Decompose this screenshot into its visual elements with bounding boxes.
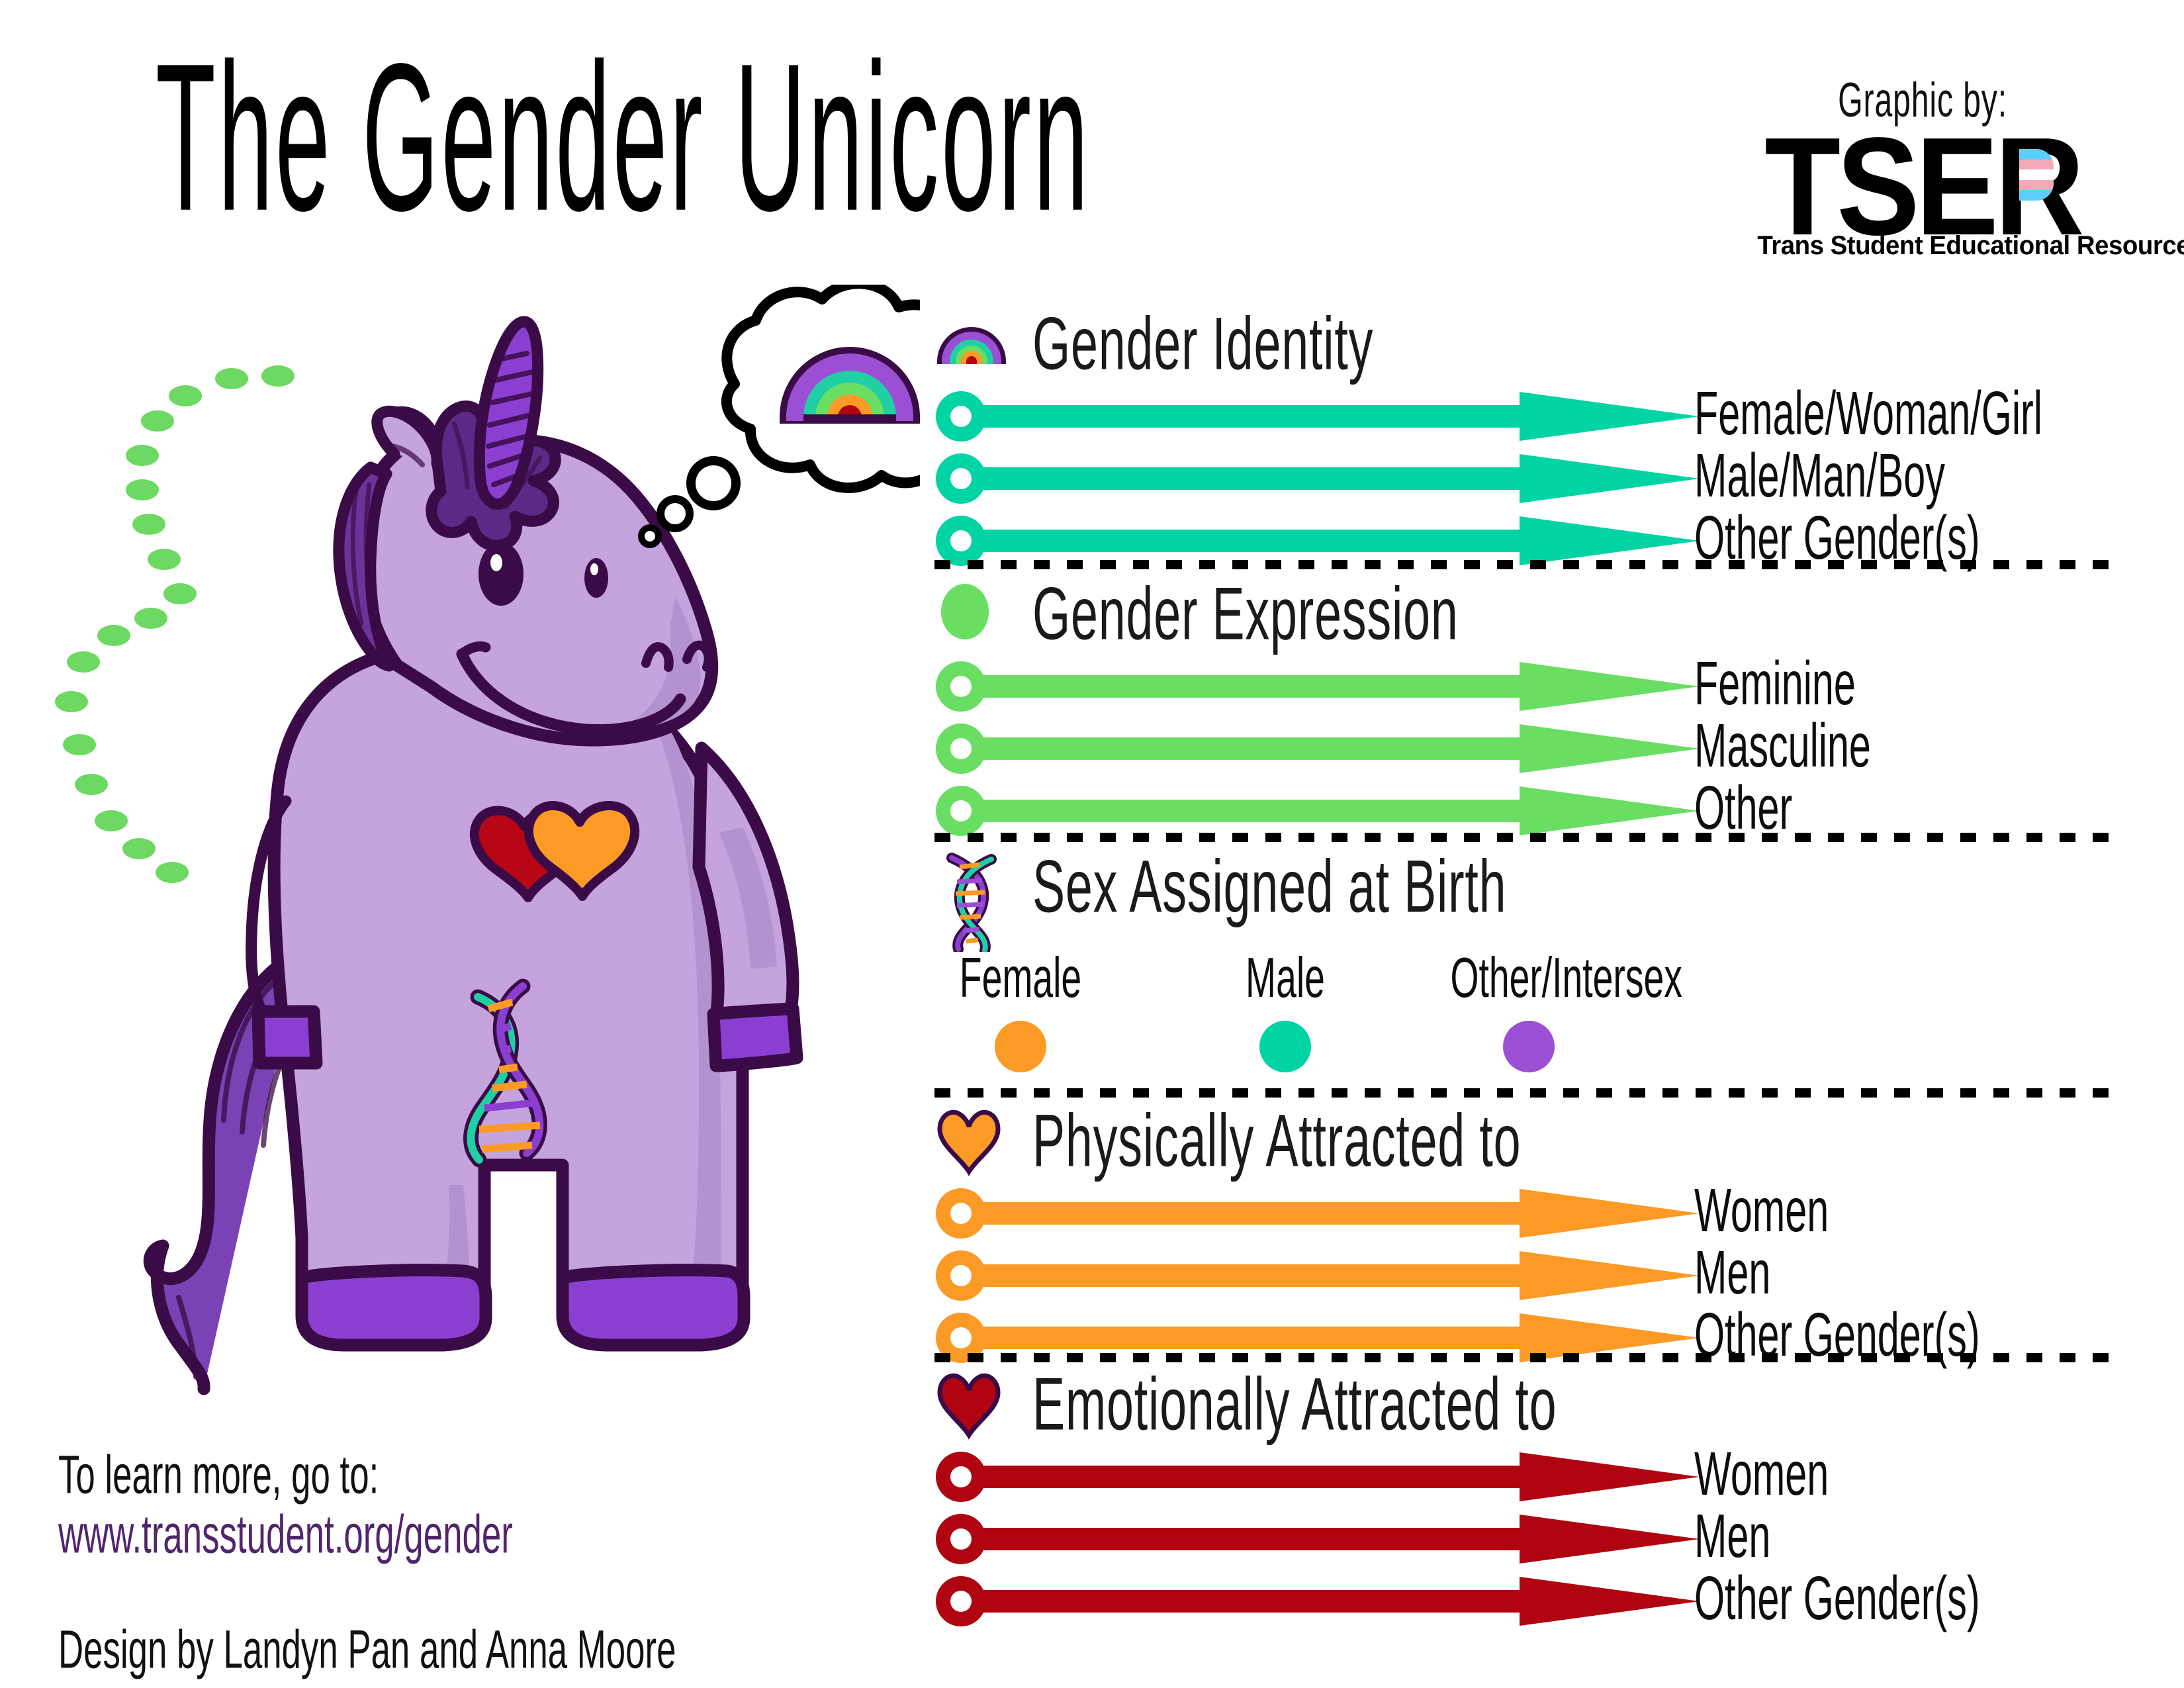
dna-icon (934, 853, 1009, 952)
sab-option-label: Female (942, 945, 1099, 1010)
decorative-dot-arc (40, 357, 318, 1284)
rainbow-icon (934, 310, 1009, 365)
sex-assigned-options: Female Male Other/Intersex (934, 945, 1861, 1098)
section-divider (934, 1353, 2122, 1362)
red-heart-icon (934, 1370, 1009, 1442)
spectrum-arrow[interactable] (934, 720, 1702, 777)
spectrum-arrow[interactable] (934, 1573, 1702, 1630)
section-gender-expression: Gender Expression Feminine Masculine Oth… (934, 580, 2126, 845)
section-header: Emotionally Attracted to (934, 1370, 2126, 1448)
spectrum-label: Women (1694, 1439, 1829, 1509)
section-header: Gender Expression (934, 580, 2126, 658)
spectrum-row[interactable]: Female/Woman/Girl (934, 388, 2126, 450)
tser-logo: Graphic by: TSER Trans Student Education… (1751, 73, 2095, 261)
website-link[interactable]: www.transstudent.org/gender (58, 1503, 667, 1565)
orange-heart-icon (934, 1107, 1009, 1178)
spectrum-label: Male/Man/Boy (1694, 441, 1945, 511)
sab-option-female[interactable]: Female (921, 945, 1120, 1072)
section-gender-identity: Gender Identity Female/Woman/Girl Male/M… (934, 310, 2126, 575)
design-credit: Design by Landyn Pan and Anna Moore (58, 1618, 667, 1680)
spectrum-arrow[interactable] (934, 782, 1702, 839)
spectrum-arrow[interactable] (934, 388, 1702, 445)
page-title: The Gender Unicorn (156, 32, 1091, 242)
section-divider (934, 560, 2122, 569)
spectrum-arrow[interactable] (934, 1247, 1702, 1304)
spectrum-label: Other Gender(s) (1694, 1564, 1980, 1634)
spectrum-label: Women (1694, 1176, 1829, 1246)
spectrum-label: Men (1694, 1238, 1770, 1308)
section-emotionally-attracted-to: Emotionally Attracted to Women Men Other… (934, 1370, 2126, 1635)
section-title: Sex Assigned at Birth (1032, 845, 1506, 929)
sab-option-other-intersex[interactable]: Other/Intersex (1430, 945, 1628, 1072)
tser-wordmark: TSER (1751, 122, 2095, 235)
spectrum-row[interactable]: Women (934, 1448, 2126, 1511)
section-divider (934, 1088, 2122, 1098)
section-title: Gender Expression (1032, 572, 1459, 657)
spectrum-row[interactable]: Masculine (934, 720, 2126, 782)
section-header: Sex Assigned at Birth (934, 853, 2126, 931)
spectrum-label: Masculine (1694, 711, 1871, 781)
trans-flag-icon (2019, 149, 2054, 201)
tser-tagline: Trans Student Educational Resources (1757, 231, 2087, 261)
section-divider (934, 833, 2122, 842)
spectrum-arrow[interactable] (934, 450, 1702, 507)
spectrum-row[interactable]: Other Gender(s) (934, 1573, 2126, 1635)
section-title: Emotionally Attracted to (1032, 1362, 1557, 1447)
section-title: Physically Attracted to (1032, 1099, 1521, 1184)
sab-option-label: Other/Intersex (1451, 945, 1608, 1010)
sab-dot-other-intersex[interactable] (1503, 1021, 1555, 1072)
spectrum-arrow[interactable] (934, 1448, 1702, 1505)
learn-more-text: To learn more, go to: (58, 1443, 667, 1505)
spectrum-label: Feminine (1694, 649, 1856, 719)
section-physically-attracted-to: Physically Attracted to Women Men Other … (934, 1107, 2126, 1372)
spectrum-label: Men (1694, 1501, 1770, 1571)
sab-dot-male[interactable] (1259, 1021, 1311, 1072)
spectrum-label: Female/Woman/Girl (1694, 379, 2042, 449)
sab-dot-female[interactable] (995, 1021, 1046, 1072)
spectrum-arrow[interactable] (934, 658, 1702, 715)
sab-option-label: Male (1207, 945, 1364, 1010)
green-circle-icon (934, 580, 1001, 641)
spectrum-row[interactable]: Women (934, 1185, 2126, 1247)
section-title: Gender Identity (1032, 302, 1373, 387)
sab-option-male[interactable]: Male (1186, 945, 1385, 1072)
section-sex-assigned-at-birth: Sex Assigned at Birth (934, 853, 2126, 931)
spectrum-arrow[interactable] (934, 1511, 1702, 1568)
footer: To learn more, go to: www.transstudent.o… (58, 1443, 819, 1677)
section-header: Physically Attracted to (934, 1107, 2126, 1185)
spectrum-row[interactable]: Feminine (934, 658, 2126, 720)
spectrum-arrow[interactable] (934, 1185, 1702, 1242)
section-header: Gender Identity (934, 310, 2126, 388)
